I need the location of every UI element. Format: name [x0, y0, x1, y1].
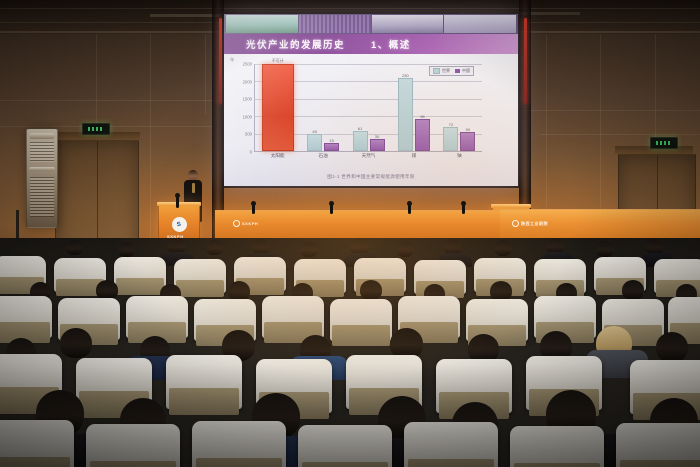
bar-value-label: 50	[466, 127, 470, 132]
audience-head	[622, 280, 644, 300]
seat-base	[0, 457, 70, 467]
chart-plot-area: 不可计 太阳能 45 15 石油	[254, 64, 482, 152]
x-tick-label: 石油	[319, 153, 328, 159]
legend-swatch-icon	[455, 69, 460, 73]
ceiling-seam	[0, 8, 700, 9]
header-thumb-2	[299, 15, 371, 33]
figure-caption: 图1-1 世界和中国主要常规能源使用年限	[224, 174, 518, 180]
seat-base	[514, 463, 601, 467]
audience-head	[118, 242, 135, 257]
slide-title: 光伏产业的发展历史	[246, 37, 345, 51]
air-conditioner-unit	[26, 128, 58, 228]
bar-value-label: 不可计	[272, 58, 284, 64]
x-tick-label: 天然气	[362, 153, 376, 159]
table-microphone	[330, 204, 333, 214]
x-tick-label: 太阳能	[271, 153, 285, 159]
exit-sign-left	[82, 123, 110, 135]
chart-legend: 世界 中国	[429, 66, 474, 76]
slide-header-image-strip	[224, 14, 518, 34]
bar-group-coal: 230 98 煤	[391, 64, 436, 151]
bar-group-oil: 45 15 石油	[300, 64, 345, 151]
audience-seating-area	[0, 238, 700, 467]
audience-head	[656, 332, 688, 362]
slide-title-bar: 光伏产业的发展历史 1、概述	[224, 34, 518, 54]
red-banner-strip-left	[219, 18, 222, 104]
seat-base	[332, 325, 389, 346]
table-logo-left: SXKPH	[233, 220, 258, 227]
table-logo-text: 陕西工业职院	[521, 221, 548, 227]
bar-value-label: 61	[358, 126, 362, 131]
energy-bar-chart: 年 2500 2000 1500 1000 500 0 不	[254, 64, 482, 152]
seat[interactable]	[534, 296, 596, 338]
header-thumb-3	[372, 15, 444, 33]
table-microphone	[462, 204, 465, 214]
audience-head	[490, 281, 512, 301]
seat[interactable]	[0, 420, 74, 467]
seat-base	[176, 280, 224, 297]
seat[interactable]	[126, 296, 188, 338]
red-banner-strip-right	[524, 18, 527, 104]
seat-base	[90, 461, 177, 467]
audience-head	[396, 241, 414, 257]
podium-top-edge	[157, 202, 201, 206]
bar-china: 15	[324, 143, 339, 151]
seat[interactable]	[616, 423, 700, 467]
audience-head	[494, 240, 512, 256]
seat[interactable]	[0, 296, 52, 338]
seat[interactable]	[114, 257, 166, 291]
bar-china: 98	[415, 119, 430, 151]
podium-microphone	[176, 196, 179, 208]
legend-label: 世界	[442, 68, 450, 74]
audience-head	[596, 241, 614, 257]
projection-screen: 光伏产业的发展历史 1、概述 年 2500 2000 1500 1000 500…	[224, 14, 518, 186]
bar-solar: 不可计	[262, 64, 294, 151]
seat[interactable]	[166, 355, 242, 409]
exit-sign-right	[650, 137, 678, 149]
seat[interactable]	[86, 424, 180, 467]
bar-value-label: 72	[449, 122, 453, 127]
podium-top-edge	[491, 204, 531, 208]
podium-logo-glyph: S	[177, 221, 182, 228]
bar-value-label: 45	[312, 129, 316, 134]
bar-group-uranium: 72 50 铀	[437, 64, 482, 151]
audience-head	[300, 242, 318, 257]
bar-value-label: 230	[402, 73, 409, 78]
table-microphone	[252, 204, 255, 214]
bar-group-gas: 61 30 天然气	[346, 64, 391, 151]
bar-china: 50	[460, 132, 475, 151]
bar-china: 30	[370, 139, 385, 151]
table-logo-right: 陕西工业职院	[512, 220, 548, 227]
bar-world: 61	[353, 131, 368, 151]
seat-base	[408, 459, 495, 467]
seat-base	[302, 462, 389, 467]
x-tick-label: 煤	[412, 153, 417, 159]
x-tick-label: 铀	[457, 153, 462, 159]
ac-top-lip	[29, 133, 55, 139]
seat[interactable]	[330, 299, 392, 341]
seat-base	[620, 460, 700, 467]
table-logo-ring-icon	[512, 220, 519, 227]
seat[interactable]	[404, 422, 498, 467]
seat[interactable]	[262, 296, 324, 338]
y-tick-label: 1000	[243, 114, 252, 119]
seat[interactable]	[298, 425, 392, 467]
chart-ylabel: 年	[230, 57, 234, 63]
bar-world: 72	[443, 127, 458, 151]
bar-group-solar: 不可计 太阳能	[255, 64, 300, 151]
header-thumb-1	[226, 15, 298, 33]
legend-swatch-icon	[433, 68, 440, 74]
seat[interactable]	[510, 426, 604, 467]
legend-item-china: 中国	[455, 68, 470, 74]
bar-world: 230	[398, 78, 413, 151]
exit-sign-glyph	[656, 141, 672, 145]
seat-base	[169, 388, 239, 415]
seat-base	[196, 458, 283, 467]
seat[interactable]	[192, 421, 286, 467]
table-logo-ring-icon	[233, 220, 240, 227]
legend-item-world: 世界	[433, 68, 450, 74]
ac-vent-grill	[30, 142, 54, 162]
seat[interactable]	[174, 259, 226, 293]
table-logo-text: SXKPH	[242, 221, 258, 226]
ac-vent-grill	[30, 177, 54, 217]
ac-mid-lip	[29, 167, 55, 171]
audience-head	[66, 240, 83, 255]
seat-base	[116, 278, 164, 295]
table-microphone	[408, 204, 411, 214]
wall-panel-seam	[205, 34, 206, 114]
presenter-tie	[192, 183, 195, 193]
audience-head	[206, 240, 223, 255]
audience-head	[228, 281, 250, 301]
wall-panel-seam	[520, 110, 700, 111]
audience-head	[96, 280, 118, 300]
y-tick-label: 0	[250, 150, 252, 155]
bar-value-label: 98	[420, 114, 424, 119]
legend-label: 中国	[462, 68, 470, 74]
y-tick-label: 2500	[243, 62, 252, 67]
podium-logo-badge: S	[172, 217, 187, 232]
bar-world: 45	[307, 134, 322, 151]
wall-panel-seam	[150, 34, 151, 262]
bar-value-label: 15	[329, 138, 333, 143]
audience-head	[360, 280, 382, 300]
bar-value-label: 30	[375, 134, 379, 139]
header-thumb-4	[444, 15, 516, 33]
y-tick-label: 1500	[243, 97, 252, 102]
slide-body: 年 2500 2000 1500 1000 500 0 不	[224, 54, 518, 186]
chart-bars: 不可计 太阳能 45 15 石油	[255, 64, 482, 151]
photograph-lecture-hall: 光伏产业的发展历史 1、概述 年 2500 2000 1500 1000 500…	[0, 0, 700, 467]
y-tick-label: 2000	[243, 79, 252, 84]
y-tick-label: 500	[245, 132, 252, 137]
exit-sign-glyph	[88, 127, 104, 131]
slide-section-label: 1、概述	[371, 37, 411, 51]
wall-panel-seam	[540, 134, 700, 135]
wall-panel-seam	[0, 100, 230, 101]
audience-head	[60, 328, 92, 358]
